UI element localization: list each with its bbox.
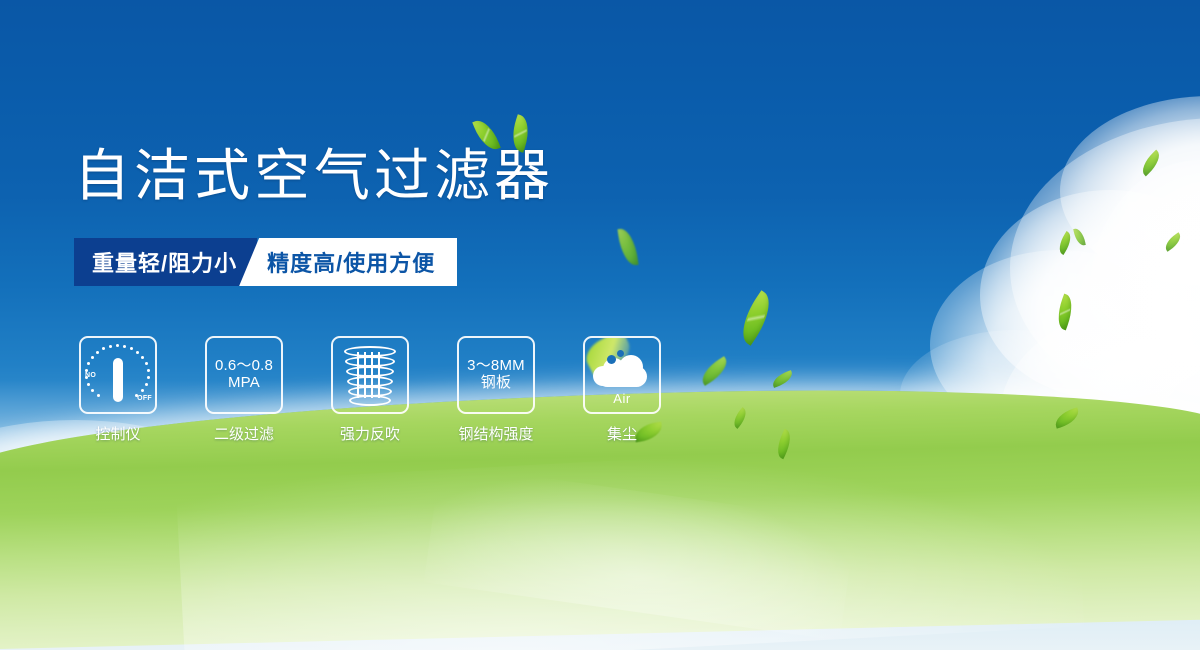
pressure-value: 0.6～0.8 — [215, 357, 273, 374]
gauge-label-no: NO — [85, 372, 96, 379]
gauge-needle — [113, 358, 123, 402]
feature-icon-box — [331, 336, 409, 414]
pressure-unit: MPA — [215, 375, 273, 392]
feature-item-controller[interactable]: NO OFF 控制仪 — [79, 336, 157, 444]
feature-icon-box: Air — [583, 336, 661, 414]
feature-label: 钢结构强度 — [458, 423, 533, 444]
feature-label: 二级过滤 — [214, 423, 274, 444]
product-hero-banner: 自洁式空气过滤器 重量轻/阻力小 精度高/使用方便 — [0, 0, 1200, 650]
steel-plate-icon: 3～8MM 钢板 — [467, 358, 525, 392]
feature-icon-box: NO OFF — [79, 336, 157, 414]
pressure-icon: 0.6～0.8 MPA — [215, 358, 273, 392]
pulse-filter-icon — [344, 346, 396, 404]
subtitle-left-badge: 重量轻/阻力小 — [74, 238, 257, 286]
feature-item-steel-strength[interactable]: 3～8MM 钢板 钢结构强度 — [457, 336, 535, 444]
feature-icon-box: 0.6～0.8 MPA — [205, 336, 283, 414]
feature-item-back-blow[interactable]: 强力反吹 — [331, 336, 409, 444]
feature-icon-box: 3～8MM 钢板 — [457, 336, 535, 414]
air-cloud-icon: Air — [591, 346, 653, 404]
air-label: Air — [591, 391, 653, 406]
subtitle-strip: 重量轻/阻力小 精度高/使用方便 — [74, 238, 457, 286]
feature-item-dust-collection[interactable]: Air 集尘 — [583, 336, 661, 444]
page-title: 自洁式空气过滤器 — [74, 148, 554, 204]
feature-label: 强力反吹 — [340, 423, 400, 444]
feature-list: NO OFF 控制仪 0.6～0.8 MPA 二级过滤 — [79, 336, 661, 444]
feature-label: 集尘 — [607, 423, 637, 444]
gauge-icon: NO OFF — [85, 344, 151, 406]
steel-material: 钢板 — [467, 375, 525, 392]
steel-thickness: 3～8MM — [467, 357, 525, 374]
subtitle-right-badge: 精度高/使用方便 — [239, 238, 457, 286]
feature-label: 控制仪 — [95, 423, 140, 444]
gauge-label-off: OFF — [137, 395, 152, 402]
feature-item-two-stage-filter[interactable]: 0.6～0.8 MPA 二级过滤 — [205, 336, 283, 444]
